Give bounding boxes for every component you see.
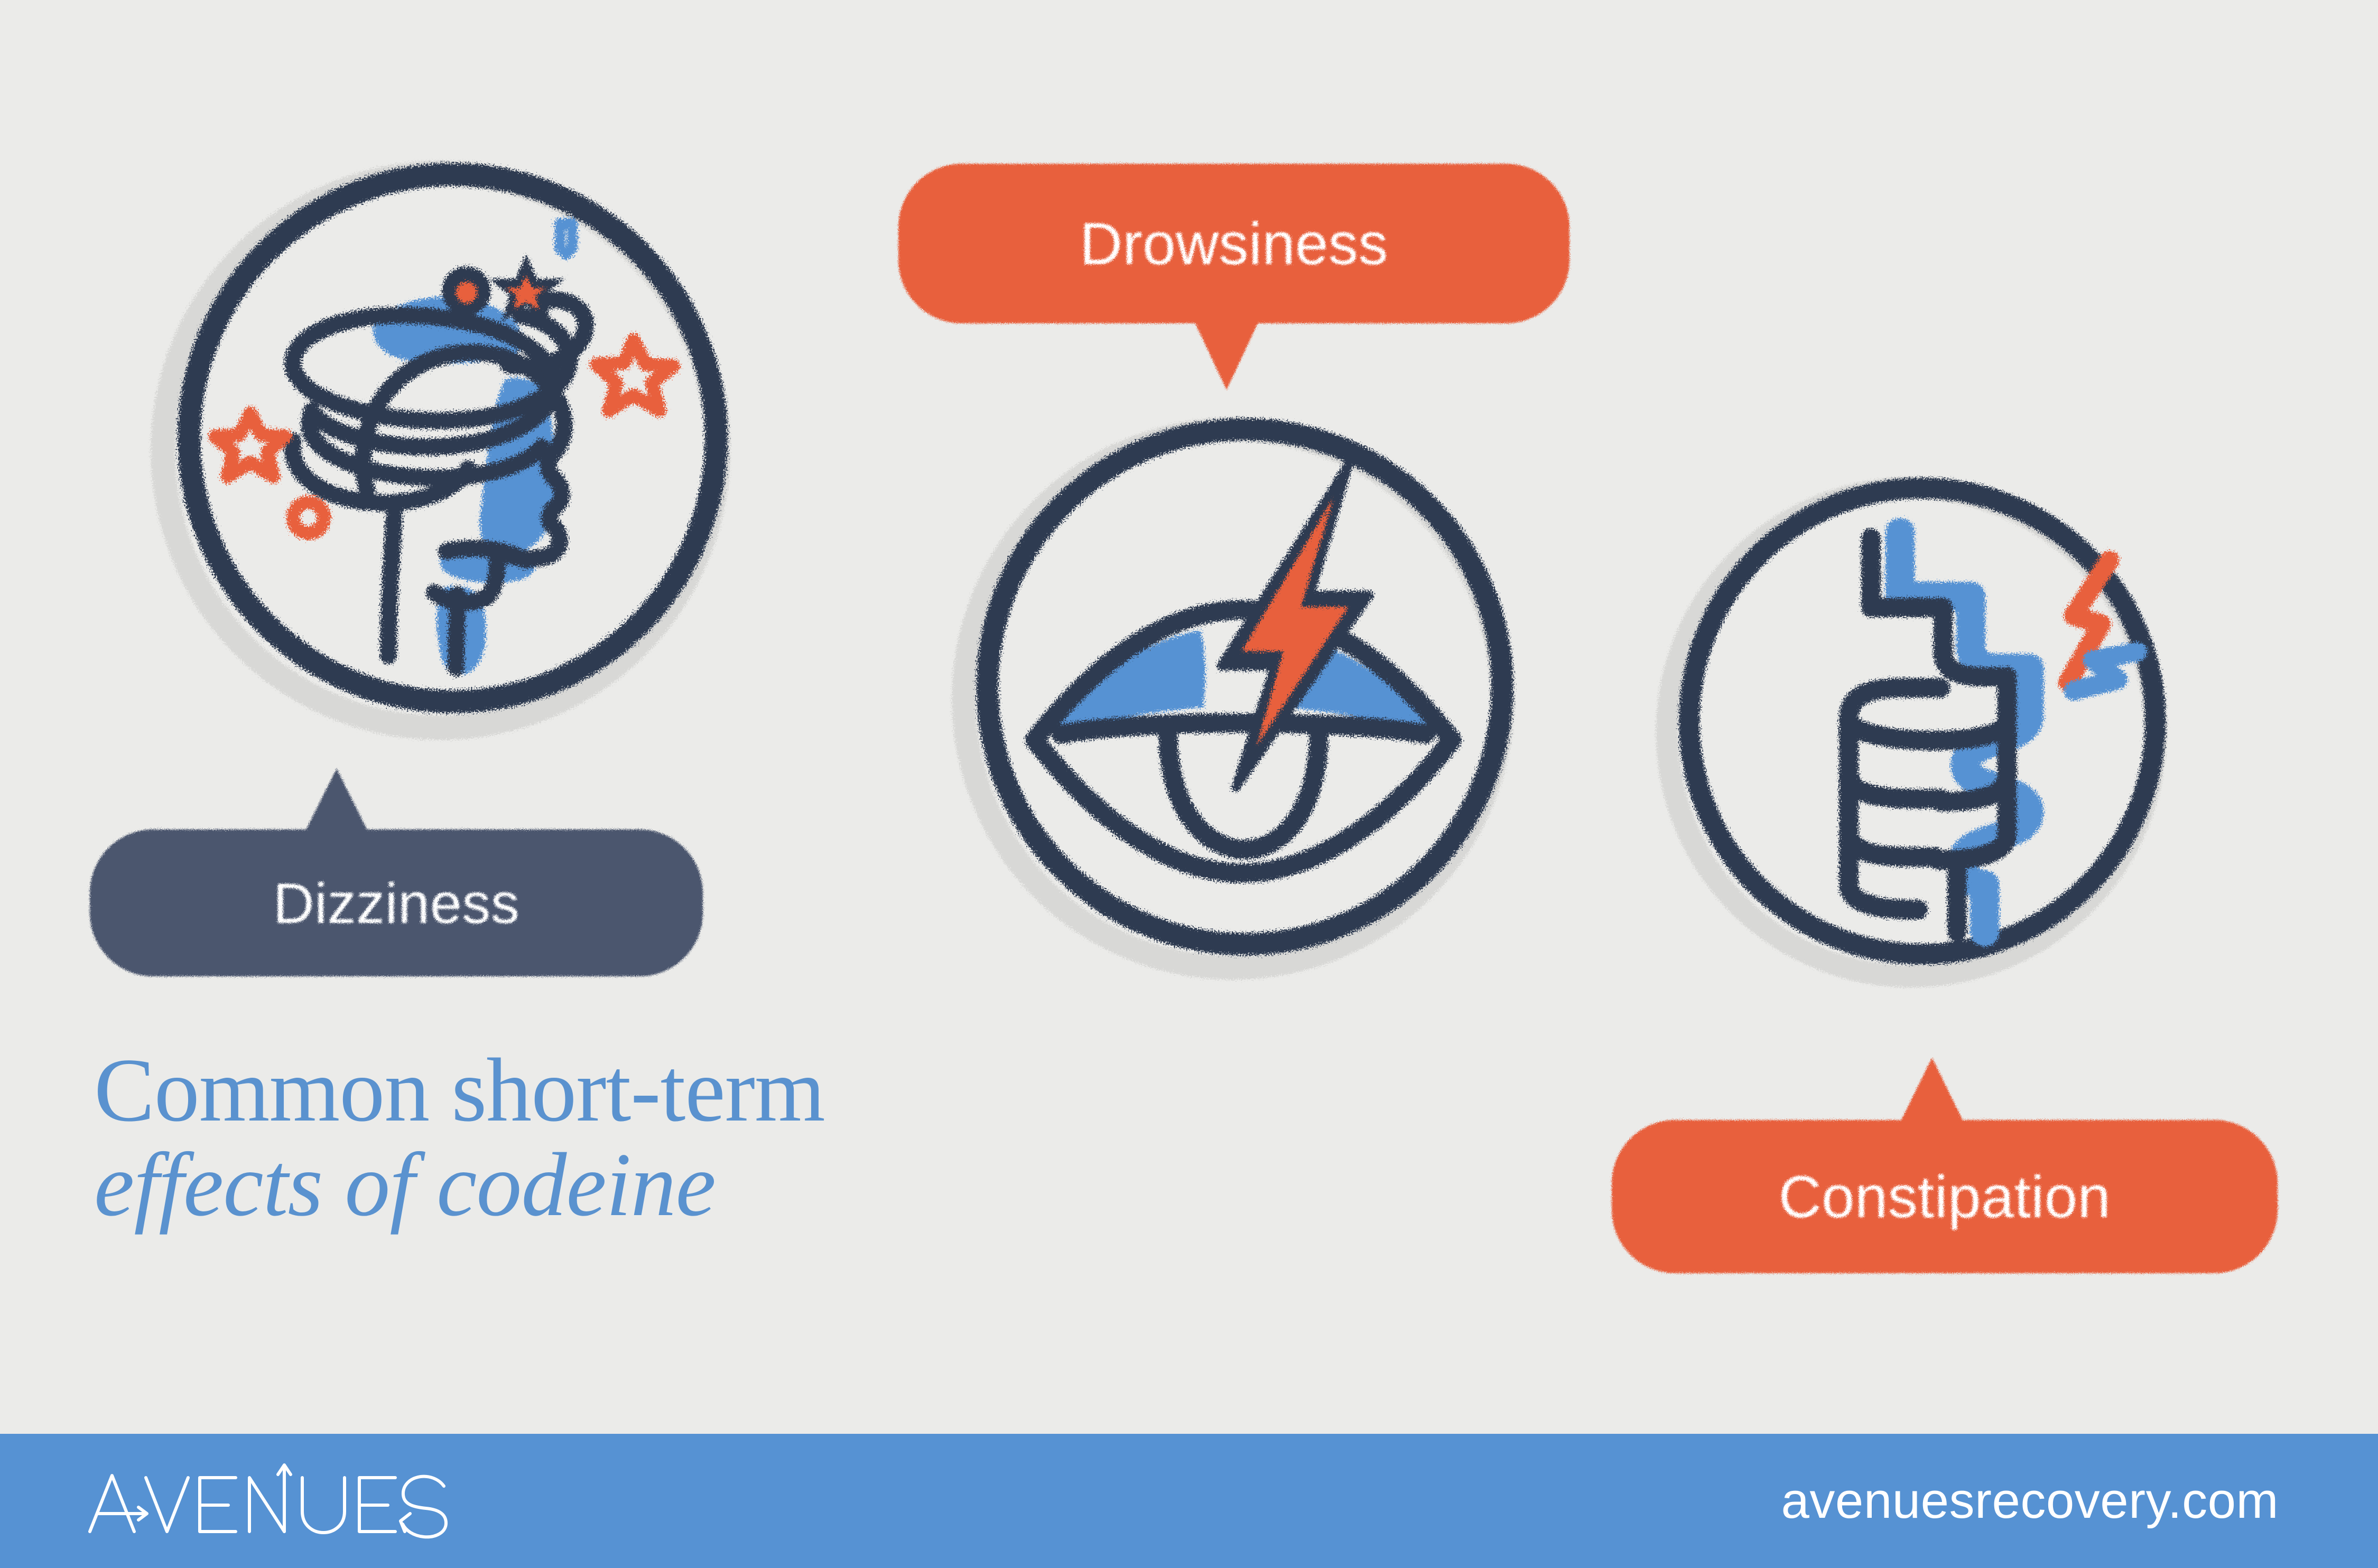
avenues-wordmark-logo[interactable]: AVENUES xyxy=(79,1459,449,1543)
badge-constipation[interactable]: Constipation xyxy=(1612,1120,2278,1273)
dizzy-head-icon xyxy=(140,135,753,748)
page-title-line-1: Common short-term xyxy=(94,1043,825,1138)
badge-drowsiness[interactable]: Drowsiness xyxy=(898,164,1569,323)
badge-dizziness-label: Dizziness xyxy=(273,870,520,936)
badge-tail-down xyxy=(1194,320,1259,390)
page-title-line-2: effects of codeine xyxy=(94,1138,825,1233)
intestines-icon xyxy=(1643,444,2198,998)
badge-constipation-label: Constipation xyxy=(1779,1163,2111,1231)
sleepy-eye-icon xyxy=(946,391,1538,983)
infographic-canvas: Dizziness Drowsiness Constipation Common… xyxy=(0,0,2378,1568)
badge-tail-up xyxy=(1899,1058,1965,1124)
badge-tail-up xyxy=(304,769,369,834)
badge-dizziness[interactable]: Dizziness xyxy=(90,829,703,976)
badge-drowsiness-label: Drowsiness xyxy=(1080,210,1388,278)
footer-website-url[interactable]: avenuesrecovery.com xyxy=(1781,1472,2279,1530)
page-title: Common short-term effects of codeine xyxy=(94,1043,825,1233)
footer-bar: AVENUES xyxy=(0,1434,2378,1568)
